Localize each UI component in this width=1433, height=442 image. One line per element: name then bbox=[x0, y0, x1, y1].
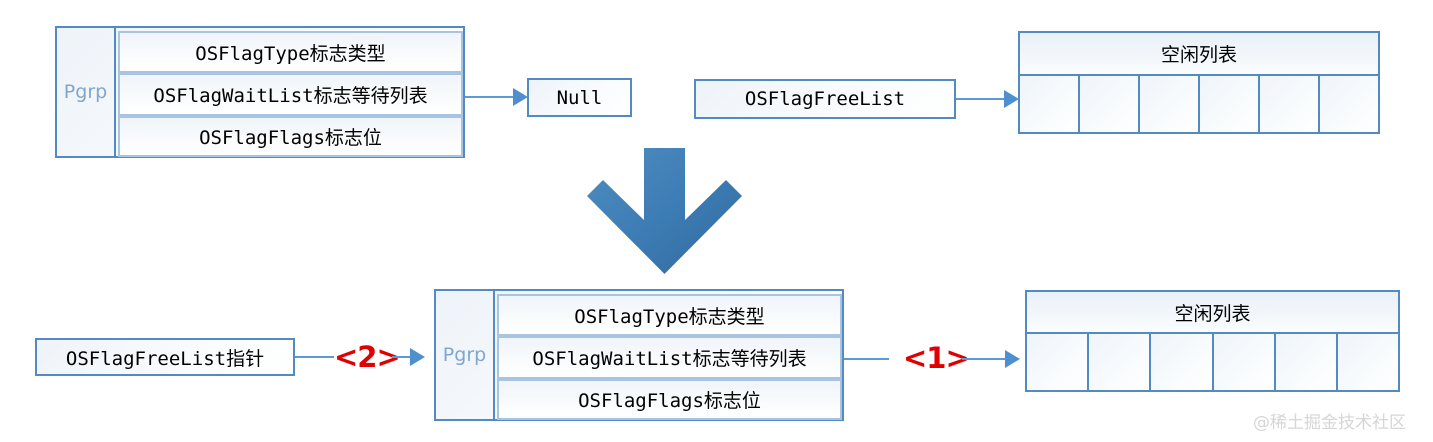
top-pgrp-divider bbox=[114, 28, 116, 156]
bottom-arrowhead-to-freelist bbox=[1005, 350, 1020, 368]
top-field-osflagtype: OSFlagType标志类型 bbox=[118, 31, 463, 73]
bottom-freelist-header: 空闲列表 bbox=[1027, 292, 1398, 334]
watermark: @稀土掘金技术社区 bbox=[1253, 408, 1406, 433]
bottom-field-osflagtype: OSFlagType标志类型 bbox=[497, 294, 842, 336]
top-arrowhead-to-null bbox=[513, 88, 528, 106]
top-connector-waitlist-to-null bbox=[465, 96, 515, 98]
diagram-canvas: Pgrp OSFlagType标志类型 OSFlagWaitList标志等待列表… bbox=[0, 0, 1433, 442]
top-freelist-cell bbox=[1260, 76, 1320, 132]
bottom-freelist-cells bbox=[1027, 334, 1398, 390]
top-field-osflagwaitlist: OSFlagWaitList标志等待列表 bbox=[118, 73, 463, 116]
bottom-freelist-cell bbox=[1089, 334, 1151, 390]
bottom-freelist-cell bbox=[1151, 334, 1213, 390]
bottom-freelist-cell bbox=[1214, 334, 1276, 390]
top-field-osflagflags: OSFlagFlags标志位 bbox=[118, 116, 463, 157]
bottom-connector-to-freelist-segment bbox=[962, 358, 1007, 360]
bottom-osflagfreelist-pointer-box: OSFlagFreeList指针 bbox=[35, 338, 295, 376]
bottom-freelist-cell bbox=[1276, 334, 1338, 390]
bottom-connector-waitlist-segment bbox=[844, 358, 889, 360]
bottom-marker-1: <1> bbox=[903, 341, 969, 375]
top-pgrp-struct: Pgrp OSFlagType标志类型 OSFlagWaitList标志等待列表… bbox=[55, 26, 465, 158]
top-freelist-table: 空闲列表 bbox=[1018, 31, 1380, 134]
top-freelist-cell bbox=[1320, 76, 1378, 132]
top-null-box: Null bbox=[527, 78, 632, 117]
bottom-marker-2: <2> bbox=[334, 340, 400, 374]
top-osflagfreelist-box: OSFlagFreeList bbox=[694, 79, 956, 119]
top-pgrp-label: Pgrp bbox=[57, 28, 114, 156]
top-freelist-cell bbox=[1200, 76, 1260, 132]
bottom-freelist-table: 空闲列表 bbox=[1025, 290, 1400, 392]
top-freelist-cells bbox=[1020, 76, 1378, 132]
top-freelist-cell bbox=[1080, 76, 1140, 132]
bottom-field-osflagwaitlist: OSFlagWaitList标志等待列表 bbox=[497, 336, 842, 379]
down-arrow-icon bbox=[587, 148, 742, 285]
bottom-field-osflagflags: OSFlagFlags标志位 bbox=[497, 379, 842, 420]
top-arrowhead-to-freelist bbox=[1004, 90, 1019, 108]
bottom-connector-right-segment bbox=[392, 356, 412, 358]
top-freelist-cell bbox=[1020, 76, 1080, 132]
bottom-connector-left-segment bbox=[295, 356, 334, 358]
bottom-pgrp-label: Pgrp bbox=[436, 291, 493, 419]
top-freelist-cell bbox=[1140, 76, 1200, 132]
bottom-freelist-cell bbox=[1338, 334, 1398, 390]
bottom-pgrp-divider bbox=[493, 291, 495, 419]
bottom-arrowhead-to-pgrp bbox=[410, 348, 425, 366]
top-freelist-header: 空闲列表 bbox=[1020, 33, 1378, 76]
bottom-pgrp-struct: Pgrp OSFlagType标志类型 OSFlagWaitList标志等待列表… bbox=[434, 289, 844, 421]
bottom-freelist-cell bbox=[1027, 334, 1089, 390]
top-connector-freelist bbox=[956, 98, 1006, 100]
